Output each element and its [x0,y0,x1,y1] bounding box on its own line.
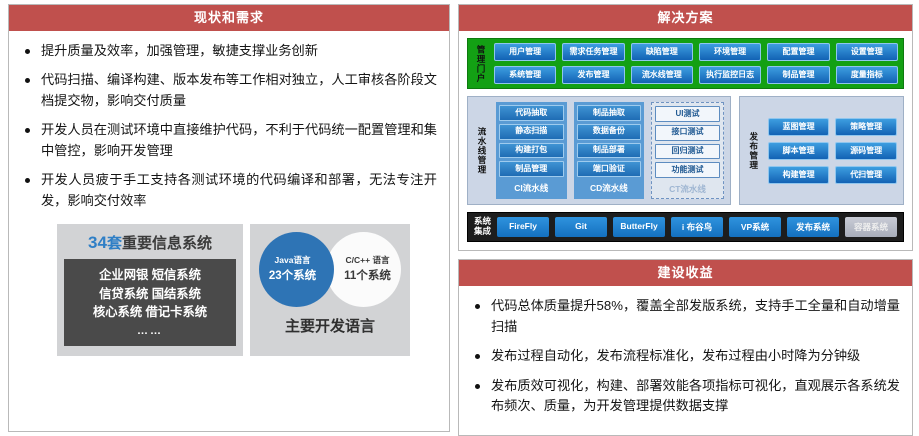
portal-button[interactable]: 缺陷管理 [631,43,693,61]
pipeline-stage[interactable]: 构建打包 [499,143,564,159]
management-portal-row: 管理门户 用户管理 需求任务管理 缺陷管理 环境管理 配置管理 设置管理 系统管… [467,38,904,89]
system-integration-items: FireFly Git ButterFly i 布谷鸟 VP系统 发布系统 容器… [497,217,897,237]
pipeline-stage[interactable]: 数据备份 [577,124,642,140]
panel-title-current-status: 现状和需求 [9,5,449,31]
pipeline-stage[interactable]: 接口测试 [655,125,720,141]
release-button[interactable]: 脚本管理 [768,142,830,160]
pipeline-stage[interactable]: UI测试 [655,106,720,122]
integration-button[interactable]: 容器系统 [845,217,897,237]
list-item: 发布过程自动化，发布流程标准化，发布过程由小时降为分钟级 [471,346,900,366]
current-status-bullet-list: 提升质量及效率，加强管理，敏捷支撑业务创新 代码扫描、编译构建、版本发布等工作相… [21,41,437,211]
portal-button[interactable]: 制品管理 [767,66,829,84]
portal-button[interactable]: 流水线管理 [631,66,693,84]
venn-diagram: Java语言 23个系统 C/C++ 语言 11个系统 [255,232,405,307]
portal-button[interactable]: 执行监控日志 [699,66,761,84]
panel-current-status: 现状和需求 提升质量及效率，加强管理，敏捷支撑业务创新 代码扫描、编译构建、版本… [8,4,450,432]
pipeline-column-cd: 制品抽取 数据备份 制品部署 端口验证 CD流水线 [574,102,645,199]
infographic: 34套重要信息系统 企业网银 短信系统 信贷系统 国结系统 核心系统 借记卡系统… [21,220,437,366]
venn-circle-cpp: C/C++ 语言 11个系统 [326,232,401,307]
portal-button[interactable]: 配置管理 [767,43,829,61]
integration-button[interactable]: i 布谷鸟 [671,217,723,237]
venn-java-label: Java语言 [275,256,311,265]
pipeline-stage[interactable]: 静态扫描 [499,124,564,140]
release-management-panel: 发布管理 蓝图管理 策略管理 脚本管理 源码管理 构建管理 代扫管理 [739,96,904,205]
systems-card-title: 34套重要信息系统 [64,232,236,253]
venn-cpp-label: C/C++ 语言 [346,256,390,265]
release-management-label: 发布管理 [746,102,762,199]
panel-title-solution: 解决方案 [459,5,912,31]
pipeline-and-release-row: 流水线管理 代码抽取 静态扫描 构建打包 制品管理 CI流水线 制品抽取 [467,96,904,205]
integration-button[interactable]: VP系统 [729,217,781,237]
system-names-box: 企业网银 短信系统 信贷系统 国结系统 核心系统 借记卡系统 …… [64,259,236,346]
list-item: 提升质量及效率，加强管理，敏捷支撑业务创新 [21,41,437,61]
management-portal-label: 管理门户 [473,43,489,84]
portal-button[interactable]: 系统管理 [494,66,556,84]
list-item: 信贷系统 国结系统 [68,285,232,303]
portal-button[interactable]: 用户管理 [494,43,556,61]
integration-button[interactable]: FireFly [497,217,549,237]
panel-title-benefits: 建设收益 [459,260,912,286]
pipeline-management-label: 流水线管理 [474,102,490,199]
benefits-bullet-list: 代码总体质量提升58%，覆盖全部发版系统，支持手工全量和自动增量扫描 发布过程自… [471,296,900,416]
pipeline-column-ci: 代码抽取 静态扫描 构建打包 制品管理 CI流水线 [496,102,567,199]
left-column: 现状和需求 提升质量及效率，加强管理，敏捷支撑业务创新 代码扫描、编译构建、版本… [8,4,450,432]
pipeline-column-footer: CI流水线 [499,180,564,194]
panel-body-current-status: 提升质量及效率，加强管理，敏捷支撑业务创新 代码扫描、编译构建、版本发布等工作相… [9,31,449,431]
system-integration-label: 系统 集成 [474,217,491,237]
list-item: 代码总体质量提升58%，覆盖全部发版系统，支持手工全量和自动增量扫描 [471,296,900,337]
pipeline-stage[interactable]: 制品管理 [499,161,564,177]
panel-body-solution: 管理门户 用户管理 需求任务管理 缺陷管理 环境管理 配置管理 设置管理 系统管… [459,31,912,250]
system-integration-row: 系统 集成 FireFly Git ButterFly i 布谷鸟 VP系统 发… [467,212,904,242]
pipeline-column-ct: UI测试 接口测试 回归测试 功能测试 CT流水线 [651,102,724,199]
panel-solution: 解决方案 管理门户 用户管理 需求任务管理 缺陷管理 环境管理 配置管理 设置管… [458,4,913,251]
systems-unit: 套 [107,235,122,252]
pipeline-stage[interactable]: 代码抽取 [499,105,564,121]
right-column: 解决方案 管理门户 用户管理 需求任务管理 缺陷管理 环境管理 配置管理 设置管… [458,4,913,432]
release-button[interactable]: 构建管理 [768,166,830,184]
list-item: 发布质效可视化，构建、部署效能各项指标可视化，直观展示各系统发布频次、质量，为开… [471,376,900,417]
list-item: 开发人员疲于手工支持各测试环境的代码编译和部署，无法专注开发，影响交付效率 [21,170,437,211]
integration-button[interactable]: ButterFly [613,217,665,237]
ellipsis-text: …… [68,323,232,340]
portal-button[interactable]: 环境管理 [699,43,761,61]
language-venn-card: Java语言 23个系统 C/C++ 语言 11个系统 主要开发语言 [250,224,410,356]
pipeline-stage[interactable]: 功能测试 [655,162,720,178]
pipeline-stage[interactable]: 回归测试 [655,144,720,160]
venn-java-count: 23个系统 [269,267,316,283]
pipeline-management-panel: 流水线管理 代码抽取 静态扫描 构建打包 制品管理 CI流水线 制品抽取 [467,96,731,205]
integration-button[interactable]: Git [555,217,607,237]
list-item: 核心系统 借记卡系统 [68,303,232,321]
slide-root: 现状和需求 提升质量及效率，加强管理，敏捷支撑业务创新 代码扫描、编译构建、版本… [0,0,919,436]
pipeline-stage[interactable]: 端口验证 [577,161,642,177]
systems-title-rest: 重要信息系统 [122,235,212,252]
panel-body-benefits: 代码总体质量提升58%，覆盖全部发版系统，支持手工全量和自动增量扫描 发布过程自… [459,286,912,435]
release-management-grid: 蓝图管理 策略管理 脚本管理 源码管理 构建管理 代扫管理 [768,102,897,199]
venn-caption: 主要开发语言 [285,315,375,336]
release-button[interactable]: 源码管理 [835,142,897,160]
list-item: 开发人员在测试环境中直接维护代码，不利于代码统一配置管理和集中管控，影响开发管理 [21,120,437,161]
release-button[interactable]: 蓝图管理 [768,118,830,136]
list-item: 企业网银 短信系统 [68,266,232,284]
pipeline-column-footer: CD流水线 [577,180,642,194]
portal-button[interactable]: 设置管理 [836,43,898,61]
pipeline-columns: 代码抽取 静态扫描 构建打包 制品管理 CI流水线 制品抽取 数据备份 制品部署 [496,102,724,199]
pipeline-stage[interactable]: 制品部署 [577,143,642,159]
pipeline-column-footer: CT流水线 [655,181,720,195]
portal-button[interactable]: 度量指标 [836,66,898,84]
panel-benefits: 建设收益 代码总体质量提升58%，覆盖全部发版系统，支持手工全量和自动增量扫描 … [458,259,913,436]
release-button[interactable]: 策略管理 [835,118,897,136]
systems-card: 34套重要信息系统 企业网银 短信系统 信贷系统 国结系统 核心系统 借记卡系统… [57,224,243,356]
portal-button[interactable]: 需求任务管理 [562,43,624,61]
system-integration-label-line2: 集成 [474,227,491,237]
management-portal-grid: 用户管理 需求任务管理 缺陷管理 环境管理 配置管理 设置管理 系统管理 发布管… [494,43,898,84]
systems-count: 34 [88,233,107,252]
release-button[interactable]: 代扫管理 [835,166,897,184]
venn-circle-java: Java语言 23个系统 [259,232,334,307]
pipeline-stage[interactable]: 制品抽取 [577,105,642,121]
venn-cpp-count: 11个系统 [344,267,391,283]
integration-button[interactable]: 发布系统 [787,217,839,237]
list-item: 代码扫描、编译构建、版本发布等工作相对独立，人工审核各阶段文档提交物，影响交付质… [21,70,437,111]
portal-button[interactable]: 发布管理 [562,66,624,84]
